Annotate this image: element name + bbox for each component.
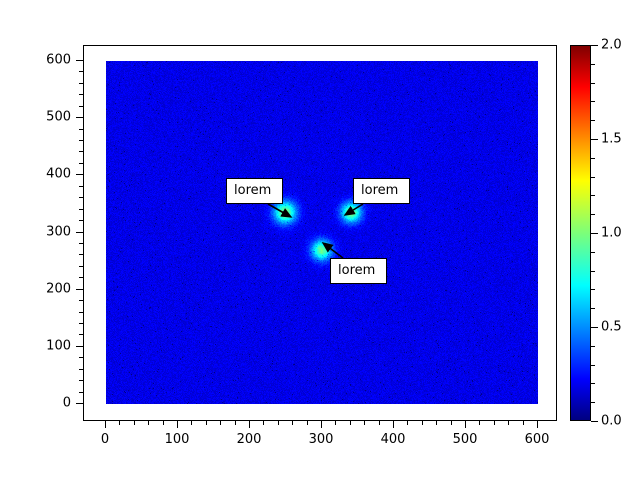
y-tick-minor xyxy=(79,357,83,358)
y-tick-label: 400 xyxy=(20,167,71,182)
x-tick-minor xyxy=(508,421,509,425)
colorbar-tick-minor xyxy=(591,402,595,403)
annotation-label-1[interactable]: lorem xyxy=(226,178,283,204)
x-tick-label: 200 xyxy=(237,432,262,447)
figure-canvas: 0100200300400500600 0100200300400500600 … xyxy=(0,0,640,480)
colorbar-tick-minor xyxy=(591,365,595,366)
y-tick-major xyxy=(76,174,83,175)
x-tick-minor xyxy=(350,421,351,425)
y-tick-label: 0 xyxy=(20,396,71,411)
x-tick-label: 300 xyxy=(309,432,334,447)
y-tick-minor xyxy=(79,151,83,152)
y-tick-minor xyxy=(79,312,83,313)
y-tick-minor xyxy=(79,323,83,324)
x-tick-minor xyxy=(335,421,336,425)
colorbar-tick-minor xyxy=(591,158,595,159)
colorbar-tick-minor xyxy=(591,214,595,215)
colorbar-tick-major xyxy=(591,45,598,46)
y-tick-minor xyxy=(79,243,83,244)
y-tick-minor xyxy=(79,277,83,278)
y-tick-minor xyxy=(79,163,83,164)
colorbar-tick-minor xyxy=(591,308,595,309)
x-tick-minor xyxy=(451,421,452,425)
y-tick-minor xyxy=(79,380,83,381)
colorbar-tick-major xyxy=(591,421,598,422)
y-tick-minor xyxy=(79,71,83,72)
x-tick-label: 100 xyxy=(165,432,190,447)
y-tick-minor xyxy=(79,106,83,107)
y-tick-major xyxy=(76,60,83,61)
x-tick-label: 0 xyxy=(101,432,109,447)
x-tick-major xyxy=(249,421,250,428)
x-tick-minor xyxy=(206,421,207,425)
y-tick-minor xyxy=(79,254,83,255)
colorbar-tick-minor xyxy=(591,289,595,290)
colorbar-tick-major xyxy=(591,327,598,328)
x-tick-major xyxy=(177,421,178,428)
y-tick-minor xyxy=(79,392,83,393)
y-tick-label: 200 xyxy=(20,282,71,297)
colorbar-tick-minor xyxy=(591,346,595,347)
x-tick-minor xyxy=(307,421,308,425)
y-tick-label: 600 xyxy=(20,53,71,68)
x-tick-minor xyxy=(278,421,279,425)
colorbar-tick-label: 0.5 xyxy=(601,320,622,335)
y-tick-major xyxy=(76,403,83,404)
y-tick-minor xyxy=(79,186,83,187)
x-tick-minor xyxy=(119,421,120,425)
colorbar-tick-minor xyxy=(591,120,595,121)
annotation-label-2[interactable]: lorem xyxy=(353,178,410,204)
colorbar-tick-major xyxy=(591,139,598,140)
x-tick-minor xyxy=(292,421,293,425)
colorbar-tick-minor xyxy=(591,83,595,84)
y-tick-major xyxy=(76,289,83,290)
y-tick-major xyxy=(76,346,83,347)
y-tick-minor xyxy=(79,140,83,141)
colorbar-tick-minor xyxy=(591,195,595,196)
y-tick-label: 300 xyxy=(20,225,71,240)
x-tick-label: 500 xyxy=(453,432,478,447)
y-tick-minor xyxy=(79,334,83,335)
x-tick-major xyxy=(105,421,106,428)
y-tick-major xyxy=(76,232,83,233)
x-tick-minor xyxy=(263,421,264,425)
colorbar-tick-minor xyxy=(591,383,595,384)
x-tick-minor xyxy=(220,421,221,425)
colorbar-tick-minor xyxy=(591,252,595,253)
x-tick-minor xyxy=(148,421,149,425)
x-tick-minor xyxy=(422,421,423,425)
x-tick-major xyxy=(537,421,538,428)
y-tick-minor xyxy=(79,300,83,301)
colorbar-tick-label: 2.0 xyxy=(601,38,622,53)
y-tick-minor xyxy=(79,209,83,210)
x-tick-major xyxy=(465,421,466,428)
y-tick-minor xyxy=(79,129,83,130)
y-tick-minor xyxy=(79,266,83,267)
x-tick-label: 600 xyxy=(525,432,550,447)
y-tick-label: 500 xyxy=(20,110,71,125)
x-tick-label: 400 xyxy=(381,432,406,447)
colorbar-tick-minor xyxy=(591,101,595,102)
x-tick-minor xyxy=(523,421,524,425)
colorbar-tick-label: 0.0 xyxy=(601,414,622,429)
y-tick-minor xyxy=(79,220,83,221)
y-tick-major xyxy=(76,117,83,118)
colorbar-tick-minor xyxy=(591,271,595,272)
x-tick-minor xyxy=(379,421,380,425)
x-tick-minor xyxy=(364,421,365,425)
x-tick-minor xyxy=(479,421,480,425)
x-tick-major xyxy=(393,421,394,428)
y-tick-minor xyxy=(79,369,83,370)
y-tick-minor xyxy=(79,94,83,95)
colorbar-tick-label: 1.0 xyxy=(601,226,622,241)
x-tick-minor xyxy=(436,421,437,425)
colorbar xyxy=(570,45,591,421)
heatmap-image xyxy=(106,61,538,404)
heatmap-canvas xyxy=(106,61,538,404)
y-tick-minor xyxy=(79,197,83,198)
x-tick-minor xyxy=(407,421,408,425)
x-tick-minor xyxy=(134,421,135,425)
x-tick-minor xyxy=(235,421,236,425)
colorbar-gradient xyxy=(571,46,590,420)
colorbar-tick-minor xyxy=(591,177,595,178)
annotation-label-3[interactable]: lorem xyxy=(330,258,387,284)
colorbar-tick-label: 1.5 xyxy=(601,132,622,147)
x-tick-major xyxy=(321,421,322,428)
colorbar-tick-major xyxy=(591,233,598,234)
y-tick-label: 100 xyxy=(20,339,71,354)
x-tick-minor xyxy=(191,421,192,425)
x-tick-minor xyxy=(494,421,495,425)
x-tick-minor xyxy=(163,421,164,425)
colorbar-tick-minor xyxy=(591,64,595,65)
y-tick-minor xyxy=(79,83,83,84)
plot-axes xyxy=(83,45,557,421)
